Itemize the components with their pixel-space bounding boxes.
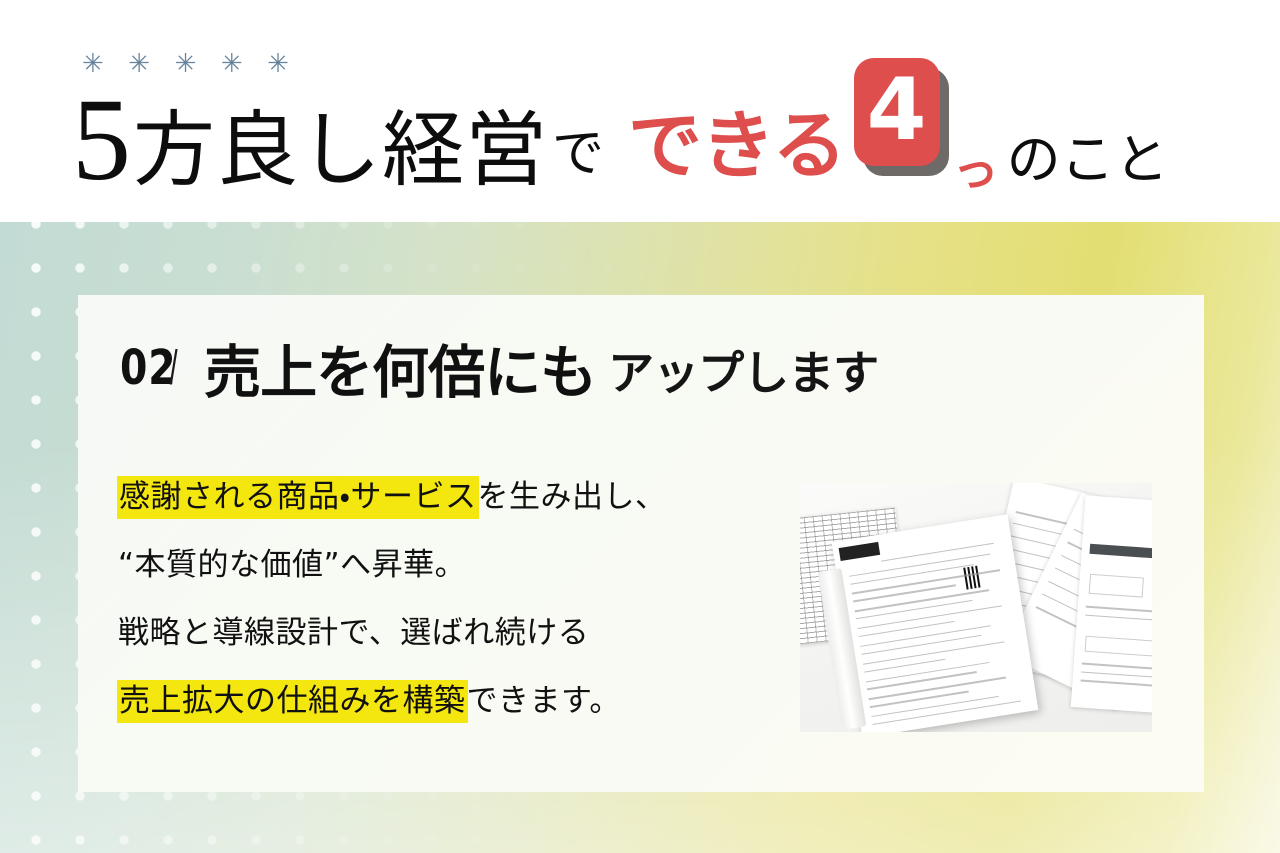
title-tail-phrase: のこと [1007, 115, 1169, 194]
copy-line-2: “本質的な価値”へ昇華。 [118, 531, 758, 599]
copy-line-3: 戦略と導線設計で、選ばれ続ける [118, 599, 758, 667]
copy-line-4: 売上拡大の仕組みを構築できます。 [118, 667, 758, 735]
card-body-copy: 感謝される商品・サービスを生み出し、 “本質的な価値”へ昇華。 戦略と導線設計で… [118, 463, 758, 735]
photo-report-right [1071, 495, 1152, 714]
copy-line-4-highlight: 売上拡大の仕組みを構築 [118, 681, 467, 722]
title-phrase-one: 方良し経営 [133, 110, 548, 192]
photo-report-right-lines [1071, 495, 1152, 714]
title-red-tail: っ [953, 134, 999, 200]
photo-plan-text-lines [832, 514, 1039, 732]
heading-separator: / [169, 341, 177, 396]
heading-main-text: 売上を何倍にも [204, 327, 596, 409]
copy-line-4-plain: できます。 [467, 683, 621, 719]
count-badge-number: 4 [854, 58, 940, 166]
title-red-phrase: できる [628, 86, 846, 193]
card-heading: 02 / 売上を何倍にも アップします [120, 327, 878, 409]
heading-index-number: 02 [120, 340, 176, 396]
copy-line-2-plain: “本質的な価値”へ昇華。 [118, 547, 466, 583]
copy-line-1: 感謝される商品・サービスを生み出し、 [118, 463, 758, 531]
title-big-number: 5 [72, 84, 131, 196]
copy-line-3-plain: 戦略と導線設計で、選ばれ続ける [118, 615, 589, 651]
slide-root: ✳ ✳ ✳ ✳ ✳ 5 方良し経営 で できる 4 っ のこと 02 / 売上を… [0, 0, 1280, 853]
heading-sub-text: アップします [608, 337, 878, 403]
title-particle-de: で [552, 111, 604, 186]
count-badge: 4 [854, 58, 949, 176]
copy-line-1-plain: を生み出し、 [478, 479, 667, 515]
photo-main-plan-document [832, 514, 1039, 732]
slide-header: ✳ ✳ ✳ ✳ ✳ 5 方良し経営 で できる 4 っ のこと [0, 0, 1280, 222]
copy-line-1-highlight: 感謝される商品・サービス [118, 477, 478, 518]
header-title-row: 5 方良し経営 で できる 4 っ のこと [72, 40, 1232, 190]
business-documents-photo [800, 483, 1152, 732]
content-card: 02 / 売上を何倍にも アップします 感謝される商品・サービスを生み出し、 “… [78, 295, 1204, 792]
